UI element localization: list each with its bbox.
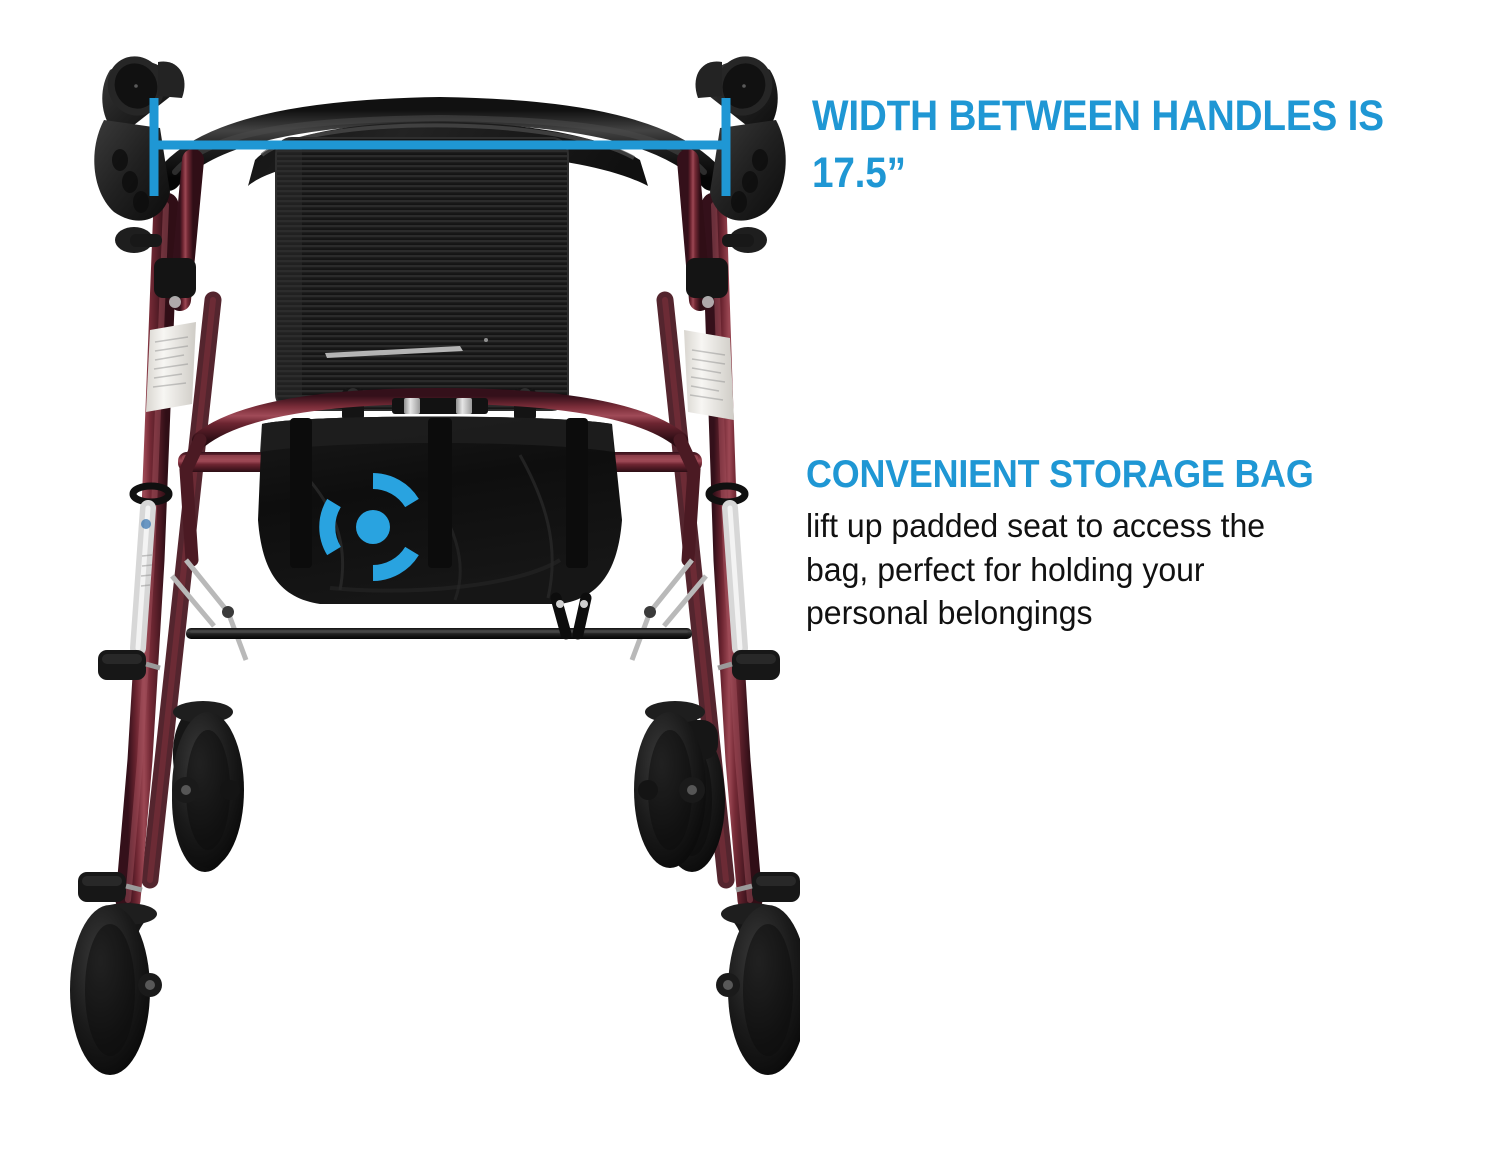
callout-handle-width: WIDTH BETWEEN HANDLES IS 17.5” [812,88,1452,202]
rollator-walker-illustration [0,0,800,1155]
seat-latch-strap [392,398,488,414]
heading-line-1: WIDTH BETWEEN [812,92,1141,140]
body-line-3: personal belongings [806,591,1466,635]
infographic-page: WIDTH BETWEEN HANDLES IS 17.5” CONVENIEN… [0,0,1500,1155]
storage-bag [258,417,622,605]
warning-label-left [146,322,196,412]
callout-storage-bag-body: lift up padded seat to access the bag, p… [806,504,1466,635]
seat-back-panel [276,138,568,410]
front-wheel-right [634,712,706,868]
front-wheel-left [172,712,244,868]
callout-storage-bag-heading: CONVENIENT STORAGE BAG [806,452,1432,498]
callout-storage-bag: CONVENIENT STORAGE BAG lift up padded se… [806,452,1486,635]
product-image [0,0,800,1155]
bottom-crossbar [186,628,692,639]
body-line-1: lift up padded seat to access the [806,504,1466,548]
body-line-2: bag, perfect for holding your [806,548,1466,592]
callout-handle-width-heading: WIDTH BETWEEN HANDLES IS 17.5” [812,88,1388,202]
strut-cylinder-right [730,508,740,648]
warning-label-right [684,330,734,420]
